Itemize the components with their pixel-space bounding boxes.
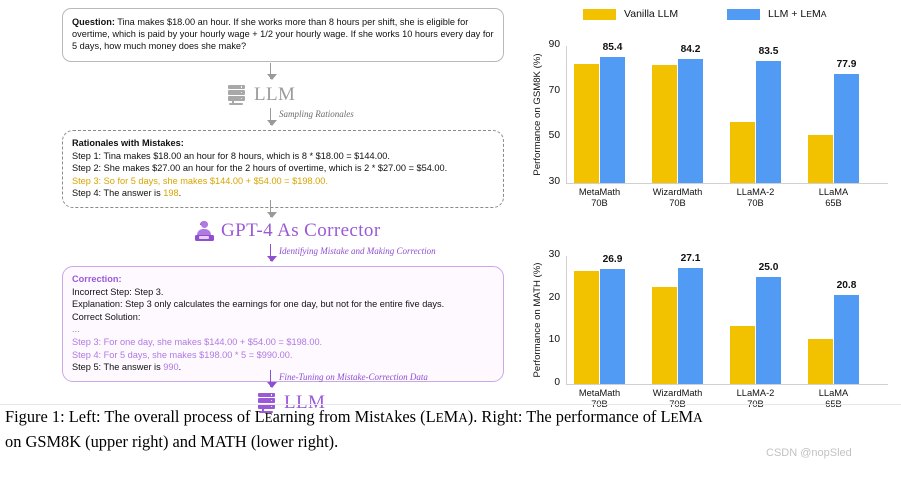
x-axis-tick: MetaMath70B (558, 187, 641, 210)
x-tick-size: 70B (714, 198, 797, 209)
bar-gsm8k-llm-lema-3 (834, 74, 859, 183)
llm-node-top: LLM (228, 84, 295, 106)
rationales-step-1: Step 1: Tina makes $18.00 an hour for 8 … (72, 150, 494, 163)
y-axis-line (566, 256, 567, 384)
legend-label-vanilla: Vanilla LLM (624, 8, 678, 20)
y-axis-tick: 70 (536, 85, 560, 96)
arrow-correction-to-llm (270, 370, 271, 387)
caption-seg-10: E (670, 410, 678, 425)
bar-math-llm-lema-3 (834, 295, 859, 384)
correction-step-5-answer: 990 (163, 362, 178, 372)
y-axis-tick: 50 (536, 130, 560, 141)
bar-value-label: 83.5 (746, 46, 791, 57)
bar-gsm8k-vanilla-llm-0 (574, 64, 599, 183)
x-axis-tick: LLaMA-270B (714, 187, 797, 210)
y-axis-label: Performance on MATH (%) (532, 256, 543, 384)
edge-label-sampling-rationales: Sampling Rationales (279, 109, 354, 119)
correction-incorrect-step: Incorrect Step: Step 3. (72, 286, 494, 299)
y-axis-tick: 0 (536, 377, 560, 388)
rationales-step-3: Step 3: So for 5 days, she makes $144.00… (72, 175, 494, 188)
bar-gsm8k-vanilla-llm-3 (808, 135, 833, 183)
x-axis-line (566, 384, 888, 385)
y-axis-line (566, 46, 567, 183)
bar-gsm8k-llm-lema-0 (600, 57, 625, 183)
bar-value-label: 84.2 (668, 44, 713, 55)
correction-box: Correction: Incorrect Step: Step 3. Expl… (62, 266, 504, 382)
corrector-node-label: GPT-4 As Corrector (221, 220, 381, 242)
bar-math-vanilla-llm-3 (808, 339, 833, 384)
rationales-step-2: Step 2: She makes $27.00 an hour for the… (72, 162, 494, 175)
arrow-corrector-to-correction (270, 244, 271, 261)
bar-value-label: 26.9 (590, 254, 635, 265)
legend-label-lema-a: A (821, 9, 827, 19)
legend-label-lema-main: LLM + L (768, 8, 806, 20)
bar-gsm8k-llm-lema-2 (756, 61, 781, 183)
rationales-box: Rationales with Mistakes: Step 1: Tina m… (62, 130, 504, 208)
x-tick-model: LLaMA (792, 187, 875, 198)
bar-gsm8k-llm-lema-1 (678, 59, 703, 183)
caption-seg-4: A (385, 410, 395, 425)
bar-math-vanilla-llm-1 (652, 287, 677, 384)
question-label: Question: (72, 17, 115, 27)
rationales-step-4-period: . (179, 188, 182, 198)
x-tick-size: 70B (558, 198, 641, 209)
caption-seg-2: E (265, 410, 273, 425)
caption-seg-5: kes (L (394, 407, 435, 426)
bar-math-llm-lema-1 (678, 268, 703, 384)
correction-step-5-text: Step 5: The answer is (72, 362, 163, 372)
bar-value-label: 77.9 (824, 59, 869, 70)
arrow-llm-to-rationales (270, 108, 271, 125)
y-axis-tick: 10 (536, 334, 560, 345)
chart-gsm8k: Performance on GSM8K (%)3050709085.4Meta… (520, 32, 901, 217)
y-axis-tick: 30 (536, 176, 560, 187)
correction-correct-solution-label: Correct Solution: (72, 311, 494, 324)
legend-swatch-lema (727, 9, 760, 20)
bar-math-llm-lema-0 (600, 269, 625, 384)
caption-seg-6: E (436, 410, 444, 425)
chart-math: Performance on MATH (%)010203026.9MetaMa… (520, 242, 901, 417)
caption-seg-1: Figure 1: Left: The overall process of L (5, 407, 265, 426)
x-tick-size: 65B (792, 198, 875, 209)
y-axis-tick: 30 (536, 249, 560, 260)
caption-line-1: Figure 1: Left: The overall process of L… (5, 405, 885, 430)
edge-label-identifying-mistake: Identifying Mistake and Making Correctio… (279, 246, 436, 256)
correction-step-3: Step 3: For one day, she makes $144.00 +… (72, 336, 494, 349)
bar-math-vanilla-llm-0 (574, 271, 599, 384)
caption-seg-11: M (679, 407, 694, 426)
x-axis-line (566, 183, 888, 184)
correction-explanation: Explanation: Step 3 only calculates the … (72, 298, 494, 311)
x-tick-model: WizardMath (636, 187, 719, 198)
charts-panel: Vanilla LLM LLM + LEMA Performance on GS… (520, 2, 901, 412)
caption-seg-3: arning from Mist (273, 407, 385, 426)
person-laptop-icon (195, 221, 214, 242)
y-axis-tick: 90 (536, 39, 560, 50)
legend-item-lema: LLM + LEMA (727, 8, 826, 20)
rationales-step-4-text: Step 4: The answer is (72, 188, 163, 198)
correction-step-5-period: . (179, 362, 182, 372)
legend-swatch-vanilla (583, 9, 616, 20)
legend-label-lema-m: M (812, 8, 821, 20)
question-box: Question: Tina makes $18.00 an hour. If … (62, 8, 504, 62)
server-stack-icon (228, 85, 247, 106)
y-axis-label: Performance on GSM8K (%) (532, 46, 543, 183)
caption-seg-12: A (693, 410, 703, 425)
legend-label-lema: LLM + LEMA (768, 8, 826, 20)
rationales-step-4-answer: 198 (163, 188, 178, 198)
correction-ellipsis: ... (72, 323, 494, 336)
correction-step-4: Step 4: For 5 days, she makes $198.00 * … (72, 349, 494, 362)
x-tick-size: 70B (636, 198, 719, 209)
corrector-node: GPT-4 As Corrector (195, 220, 381, 242)
caption-seg-8: A (458, 410, 468, 425)
x-tick-model: WizardMath (636, 388, 719, 399)
figure-caption: Figure 1: Left: The overall process of L… (5, 405, 885, 454)
x-tick-model: MetaMath (558, 388, 641, 399)
rationales-heading: Rationales with Mistakes: (72, 137, 494, 150)
legend-item-vanilla: Vanilla LLM (583, 8, 678, 20)
bar-gsm8k-vanilla-llm-1 (652, 65, 677, 183)
caption-seg-7: M (444, 407, 459, 426)
x-tick-model: LLaMA-2 (714, 388, 797, 399)
bar-value-label: 27.1 (668, 253, 713, 264)
rationales-step-4: Step 4: The answer is 198. (72, 187, 494, 200)
bar-gsm8k-vanilla-llm-2 (730, 122, 755, 183)
x-tick-model: LLaMA-2 (714, 187, 797, 198)
figure-container: Question: Tina makes $18.00 an hour. If … (0, 0, 901, 479)
caption-seg-9: ). Right: The performance of L (468, 407, 671, 426)
y-axis-tick: 20 (536, 292, 560, 303)
chart-legend: Vanilla LLM LLM + LEMA (520, 8, 901, 24)
x-axis-tick: WizardMath70B (636, 187, 719, 210)
x-tick-model: MetaMath (558, 187, 641, 198)
bar-value-label: 25.0 (746, 262, 791, 273)
llm-node-top-label: LLM (254, 84, 295, 106)
edge-label-fine-tuning: Fine-Tuning on Mistake-Correction Data (279, 372, 428, 382)
bar-math-llm-lema-2 (756, 277, 781, 384)
question-text: Tina makes $18.00 an hour. If she works … (72, 17, 494, 51)
x-axis-tick: LLaMA65B (792, 187, 875, 210)
correction-heading: Correction: (72, 273, 494, 286)
bar-math-vanilla-llm-2 (730, 326, 755, 384)
arrow-question-to-llm (270, 63, 271, 79)
arrow-rationales-to-corrector (270, 200, 271, 217)
caption-line-2: on GSM8K (upper right) and MATH (lower r… (5, 430, 885, 454)
bar-value-label: 20.8 (824, 280, 869, 291)
bar-value-label: 85.4 (590, 42, 635, 53)
x-tick-model: LLaMA (792, 388, 875, 399)
watermark: CSDN @nopSled (766, 447, 852, 459)
